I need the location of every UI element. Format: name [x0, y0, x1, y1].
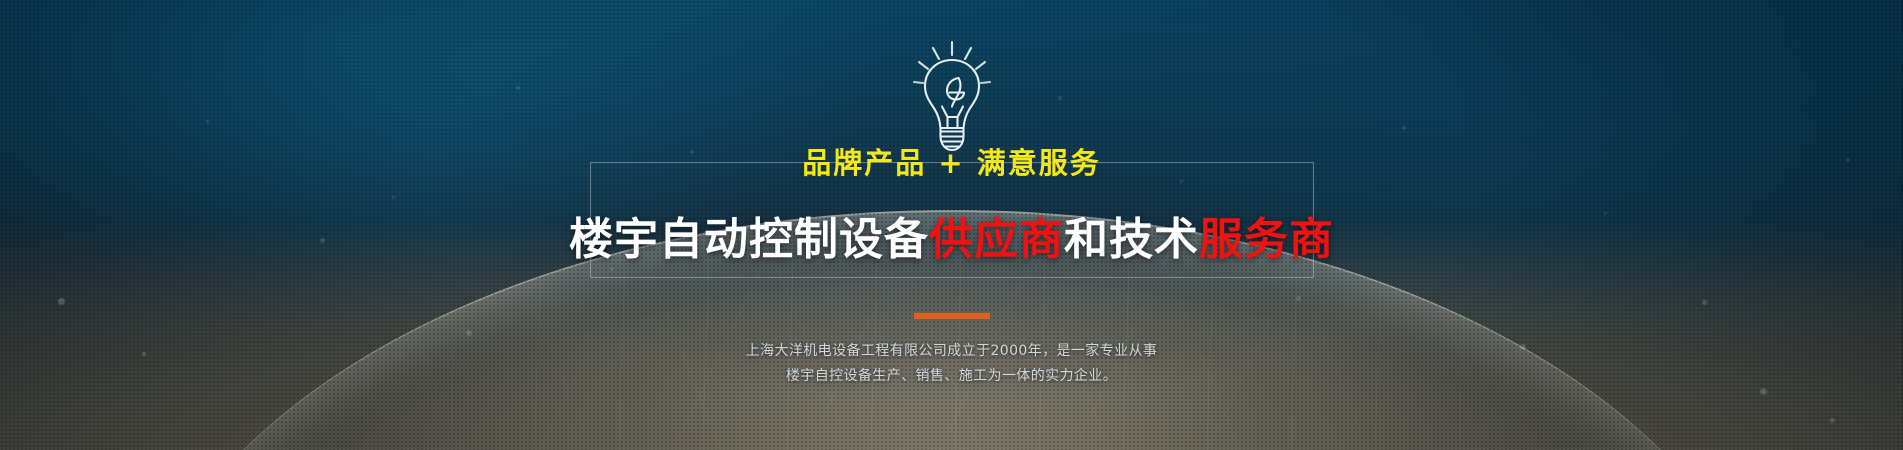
hero-banner: 品牌产品 + 满意服务 楼宇自动控制设备供应商和技术服务商 上海大洋机电设备工程… — [0, 0, 1903, 450]
headline-segment-1: 楼宇自动控制设备 — [569, 214, 929, 265]
kicker-text: 品牌产品 + 满意服务 — [780, 146, 1123, 180]
page-title: 楼宇自动控制设备供应商和技术服务商 — [569, 214, 1334, 266]
description-text: 上海大洋机电设备工程有限公司成立于2000年，是一家专业从事 楼宇自控设备生产、… — [746, 339, 1158, 389]
description-line-2: 楼宇自控设备生产、销售、施工为一体的实力企业。 — [746, 364, 1158, 389]
headline-segment-3: 和技术 — [1064, 214, 1199, 265]
description-line-1: 上海大洋机电设备工程有限公司成立于2000年，是一家专业从事 — [746, 339, 1158, 364]
banner-content: 品牌产品 + 满意服务 楼宇自动控制设备供应商和技术服务商 上海大洋机电设备工程… — [0, 0, 1903, 450]
headline-segment-2: 供应商 — [929, 214, 1064, 265]
headline-frame: 品牌产品 + 满意服务 楼宇自动控制设备供应商和技术服务商 — [590, 162, 1314, 278]
orange-divider — [914, 313, 990, 319]
headline-segment-4: 服务商 — [1199, 214, 1334, 265]
lightbulb-icon — [909, 38, 995, 156]
